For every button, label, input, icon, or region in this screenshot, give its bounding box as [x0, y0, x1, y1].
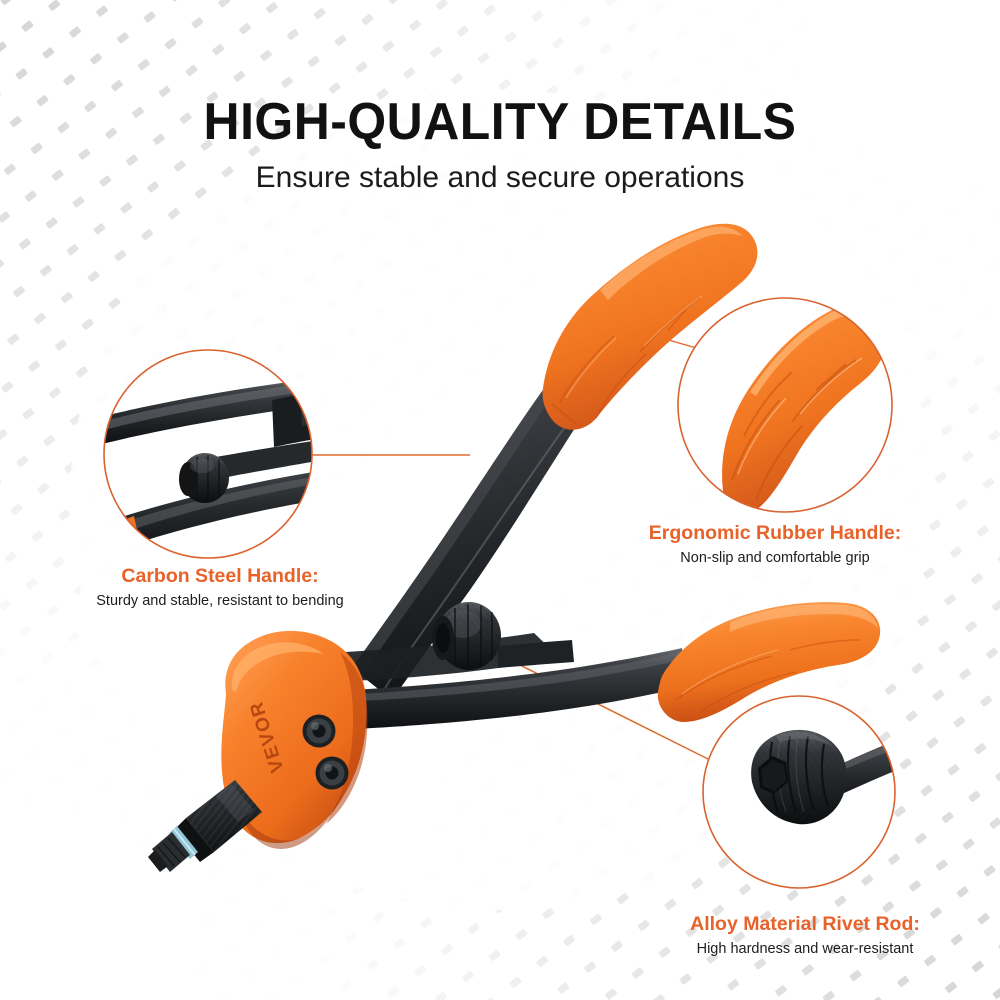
callout-subtitle-alloy-material-rivet-rod: High hardness and wear-resistant: [625, 941, 985, 957]
callout-label-ergonomic-rubber-handle: Ergonomic Rubber Handle: Non-slip and co…: [595, 522, 955, 566]
callout-circle-ergonomic-rubber-handle[interactable]: [678, 298, 892, 524]
adjustment-knob: [432, 602, 574, 670]
callout-circle-alloy-material-rivet-rod[interactable]: [703, 696, 912, 888]
callout-label-carbon-steel-handle: Carbon Steel Handle: Sturdy and stable, …: [20, 565, 420, 609]
product-illustration: VEVOR: [0, 0, 1000, 1000]
callout-title-alloy-material-rivet-rod: Alloy Material Rivet Rod:: [625, 913, 985, 936]
callout-subtitle-carbon-steel-handle: Sturdy and stable, resistant to bending: [20, 593, 420, 609]
callout-circle-carbon-steel-handle[interactable]: [96, 346, 336, 562]
callout-subtitle-ergonomic-rubber-handle: Non-slip and comfortable grip: [595, 550, 955, 566]
callout-label-alloy-material-rivet-rod: Alloy Material Rivet Rod: High hardness …: [625, 913, 985, 957]
bolt-upper: [303, 715, 336, 748]
callout-title-ergonomic-rubber-handle: Ergonomic Rubber Handle:: [595, 522, 955, 545]
callout-title-carbon-steel-handle: Carbon Steel Handle:: [20, 565, 420, 588]
bolt-lower: [316, 757, 349, 790]
infographic-canvas: HIGH-QUALITY DETAILS Ensure stable and s…: [0, 0, 1000, 1000]
